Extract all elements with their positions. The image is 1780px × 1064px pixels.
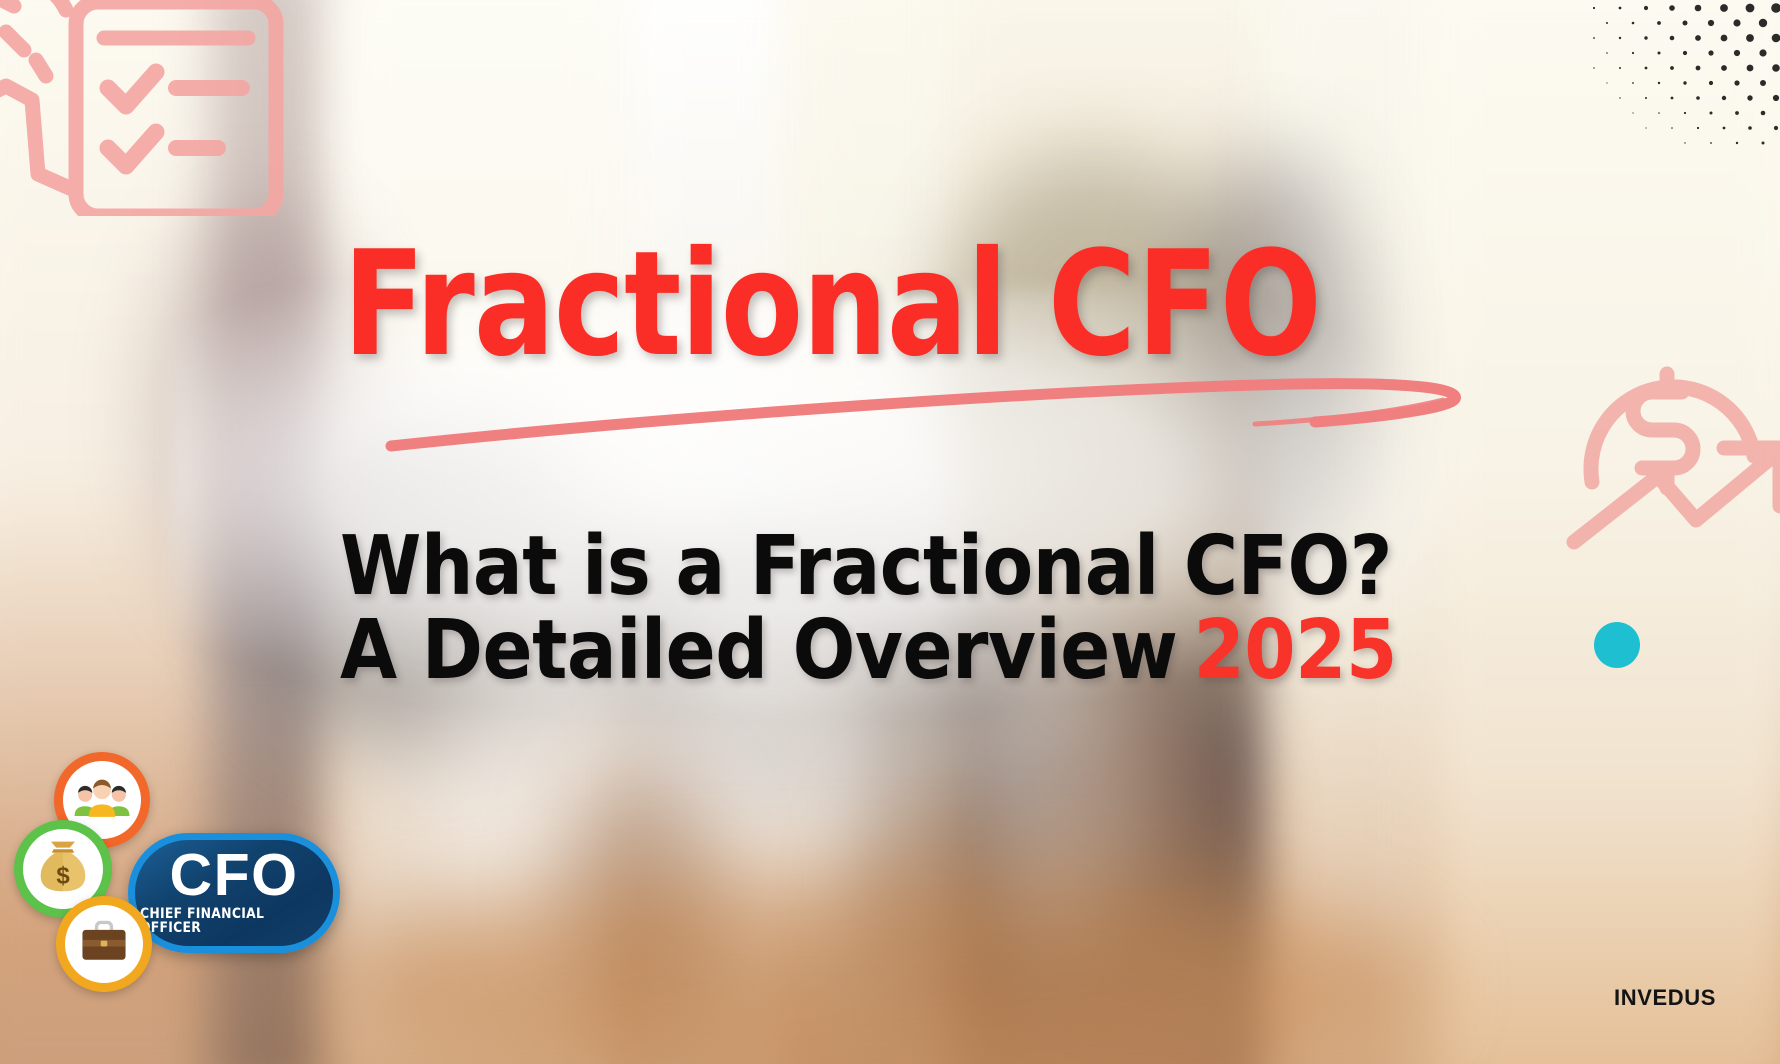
fractional-cfo-banner: Fractional CFO What is a Fractional CFO?… [0,0,1780,1064]
teal-circle-dot [1594,622,1640,668]
halftone-dots-pattern [1580,0,1780,150]
cfo-badge: CFO CHIEF FINANCIAL OFFICER [10,760,340,1030]
cfo-badge-title: CFO [169,848,298,902]
background-window-glow [170,290,1450,710]
clipboard-checklist-icon [0,0,310,216]
svg-text:$: $ [56,863,70,890]
cfo-badge-pill: CFO CHIEF FINANCIAL OFFICER [128,833,340,953]
dollar-growth-arrow-icon [1556,330,1780,560]
invedus-watermark: INVEDUS [1614,985,1716,1011]
briefcase-icon [56,896,152,992]
cfo-badge-subtitle: CHIEF FINANCIAL OFFICER [140,907,328,936]
